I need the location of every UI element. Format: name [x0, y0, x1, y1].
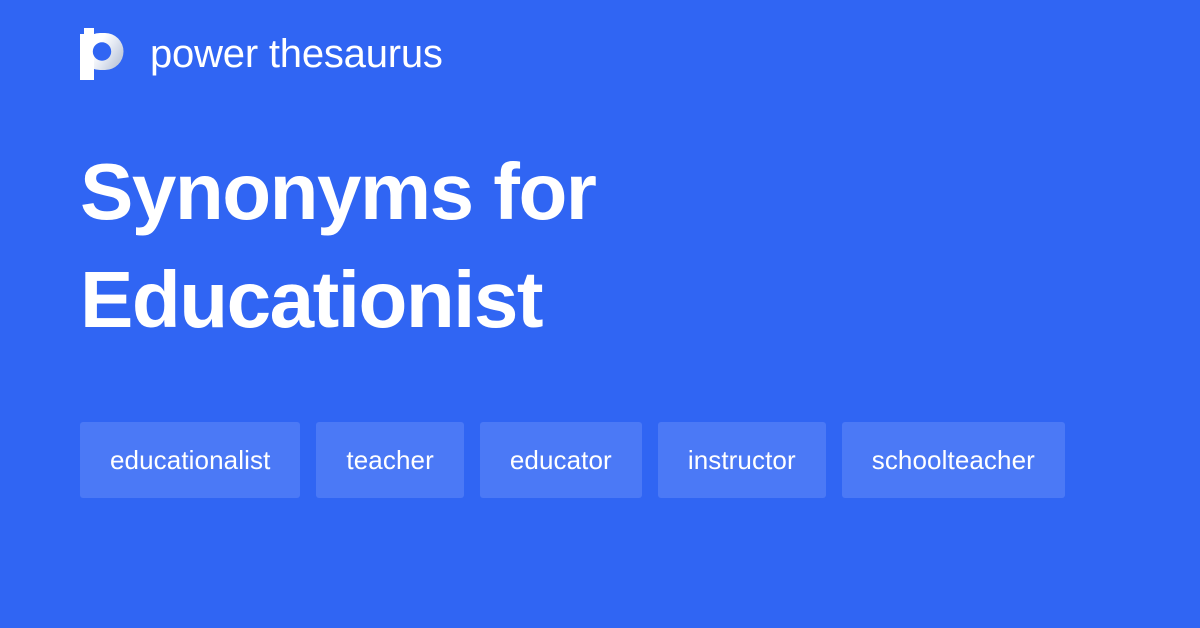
power-thesaurus-b-logo-icon	[80, 28, 128, 80]
synonym-chip[interactable]: instructor	[658, 422, 826, 498]
synonym-chip[interactable]: teacher	[316, 422, 463, 498]
synonym-chip[interactable]: educator	[480, 422, 642, 498]
synonyms-share-card: power thesaurus Synonyms for Educationis…	[0, 0, 1200, 628]
page-title: Synonyms for Educationist	[80, 138, 980, 354]
synonym-chip[interactable]: schoolteacher	[842, 422, 1065, 498]
page-title-line-1: Synonyms for	[80, 138, 980, 246]
synonym-chip-list: educationalist teacher educator instruct…	[80, 422, 1120, 498]
page-title-line-2: Educationist	[80, 246, 980, 354]
synonym-chip[interactable]: educationalist	[80, 422, 300, 498]
brand-header[interactable]: power thesaurus	[80, 28, 443, 80]
brand-title: power thesaurus	[150, 34, 443, 74]
